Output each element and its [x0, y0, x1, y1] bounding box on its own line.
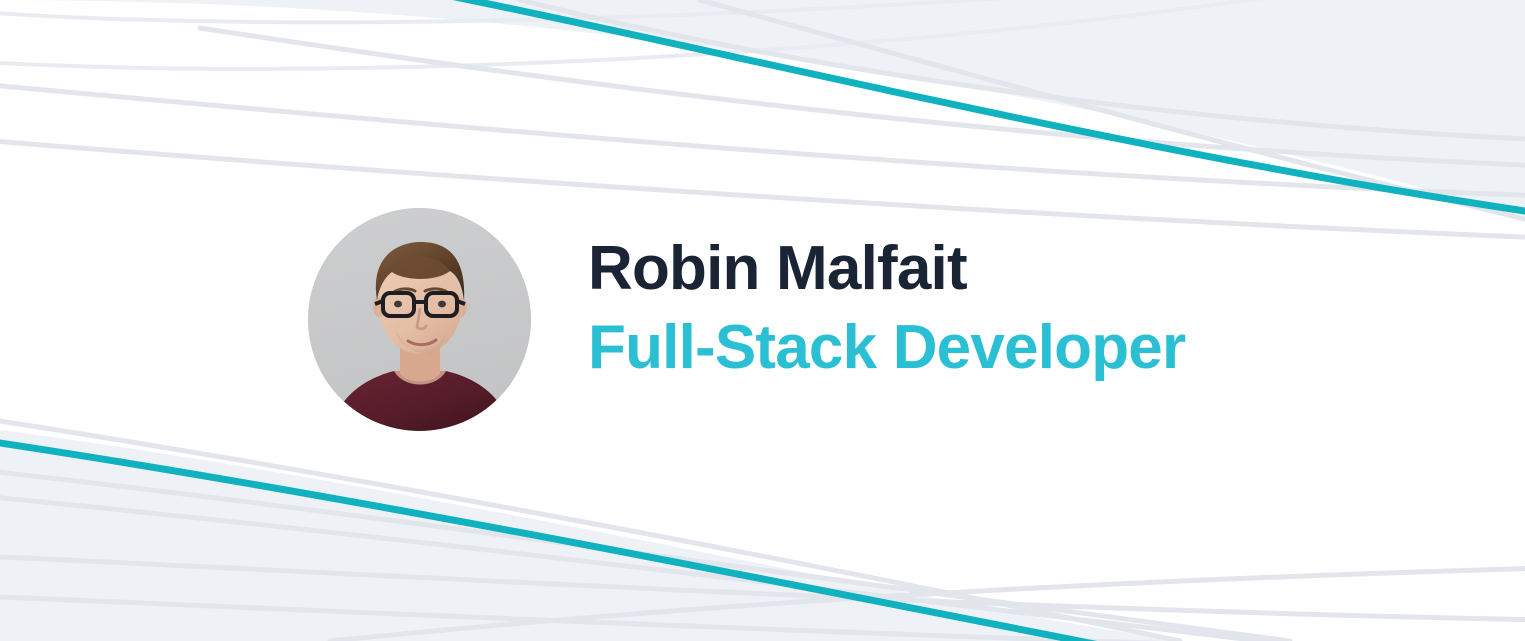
portrait-photo-icon	[308, 208, 531, 431]
person-name: Robin Malfait	[588, 236, 1288, 303]
banner-content: Robin Malfait Full-Stack Developer	[0, 0, 1525, 641]
person-role: Full-Stack Developer	[588, 315, 1288, 382]
profile-banner: Robin Malfait Full-Stack Developer	[0, 0, 1525, 641]
avatar[interactable]	[308, 208, 531, 431]
identity-block: Robin Malfait Full-Stack Developer	[588, 236, 1288, 382]
